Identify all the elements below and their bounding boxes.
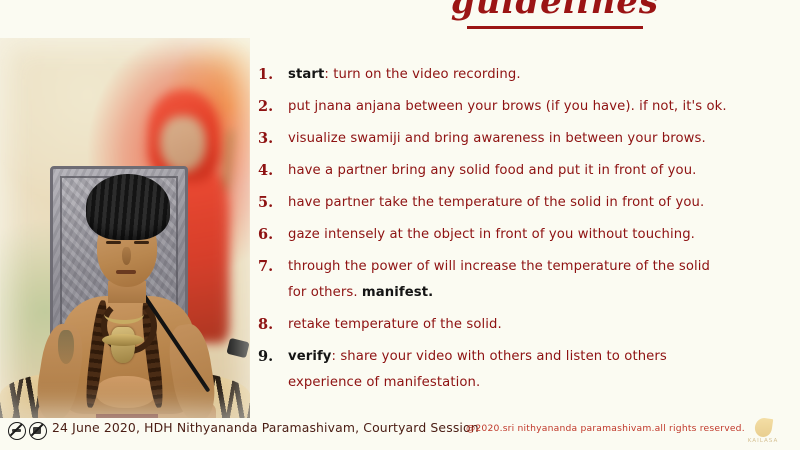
list-item-text: put jnana anjana between your brows (if … [288, 94, 794, 120]
list-item-body: have a partner bring any solid food and … [288, 163, 696, 178]
list-item-body: through the power of will increase the t… [288, 259, 710, 274]
list-item: 5.have partner take the temperature of t… [258, 190, 794, 216]
list-item-continuation: for others. manifest. [288, 280, 794, 306]
footer-icons [8, 422, 47, 440]
list-item-continuation-keyword: manifest. [362, 285, 433, 300]
list-item-body: have partner take the temperature of the… [288, 195, 704, 210]
list-item-text: retake temperature of the solid. [288, 312, 794, 338]
footer-caption: 24 June 2020, HDH Nithyananda Paramashiv… [52, 420, 479, 435]
list-item-text: visualize swamiji and bring awareness in… [288, 126, 794, 152]
flame-icon [753, 417, 772, 438]
list-item-text: have partner take the temperature of the… [288, 190, 794, 216]
list-item-text: through the power of will increase the t… [288, 254, 794, 306]
list-item-body: visualize swamiji and bring awareness in… [288, 131, 706, 146]
list-item-number: 4. [258, 158, 288, 184]
footer: 24 June 2020, HDH Nithyananda Paramashiv… [0, 416, 800, 450]
left-eye [106, 241, 121, 244]
list-item: 7.through the power of will increase the… [258, 254, 794, 306]
list-item-number: 9. [258, 344, 288, 370]
title-underline-bar [467, 26, 643, 29]
list-item-body: : turn on the video recording. [324, 67, 520, 82]
list-item-number: 6. [258, 222, 288, 248]
list-item: 9.verify: share your video with others a… [258, 344, 794, 396]
page-title: guidelines [420, 4, 690, 21]
list-item-body: put jnana anjana between your brows (if … [288, 99, 727, 114]
garuda-pendant [111, 327, 135, 363]
hands-in-lap [96, 376, 156, 408]
list-item-text: have a partner bring any solid food and … [288, 158, 794, 184]
list-item: 4.have a partner bring any solid food an… [258, 158, 794, 184]
list-item: 3.visualize swamiji and bring awareness … [258, 126, 794, 152]
list-item-body: gaze intensely at the object in front of… [288, 227, 695, 242]
jata-hair-bun [86, 174, 170, 240]
nose [122, 247, 131, 265]
list-item: 6.gaze intensely at the object in front … [258, 222, 794, 248]
mouth [116, 270, 136, 274]
list-item-continuation: experience of manifestation. [288, 370, 794, 396]
no-photography-icon [29, 422, 47, 440]
list-item-text: start: turn on the video recording. [288, 62, 794, 88]
list-item-number: 2. [258, 94, 288, 120]
list-item: 8.retake temperature of the solid. [258, 312, 794, 338]
list-item-continuation-text: for others. [288, 285, 362, 300]
list-item-text: verify: share your video with others and… [288, 344, 794, 396]
kailasa-logo: KAILASA [732, 418, 794, 448]
brand-name: KAILASA [732, 438, 794, 444]
list-item-number: 7. [258, 254, 288, 280]
background-face [160, 116, 206, 172]
list-item-body: : share your video with others and liste… [332, 349, 667, 364]
slide-canvas: guidelines 1.start: turn on the video re… [0, 0, 800, 450]
right-eye [134, 241, 149, 244]
arm-tattoo [58, 330, 74, 364]
list-item: 1.start: turn on the video recording. [258, 62, 794, 88]
list-item-number: 3. [258, 126, 288, 152]
list-item-number: 1. [258, 62, 288, 88]
guru-photo [0, 38, 250, 418]
list-item-number: 8. [258, 312, 288, 338]
list-item-text: gaze intensely at the object in front of… [288, 222, 794, 248]
gold-necklace [104, 304, 144, 324]
list-item-keyword: start [288, 67, 324, 82]
page-title-text: guidelines [451, 0, 659, 22]
no-smoking-icon [8, 422, 26, 440]
list-item-body: retake temperature of the solid. [288, 317, 502, 332]
guidelines-list: 1.start: turn on the video recording.2.p… [258, 62, 794, 402]
copyright-notice: @2020.sri nithyananda paramashivam.all r… [466, 423, 745, 434]
list-item-continuation-text: experience of manifestation. [288, 375, 480, 390]
list-item-number: 5. [258, 190, 288, 216]
list-item: 2.put jnana anjana between your brows (i… [258, 94, 794, 120]
list-item-keyword: verify [288, 349, 332, 364]
